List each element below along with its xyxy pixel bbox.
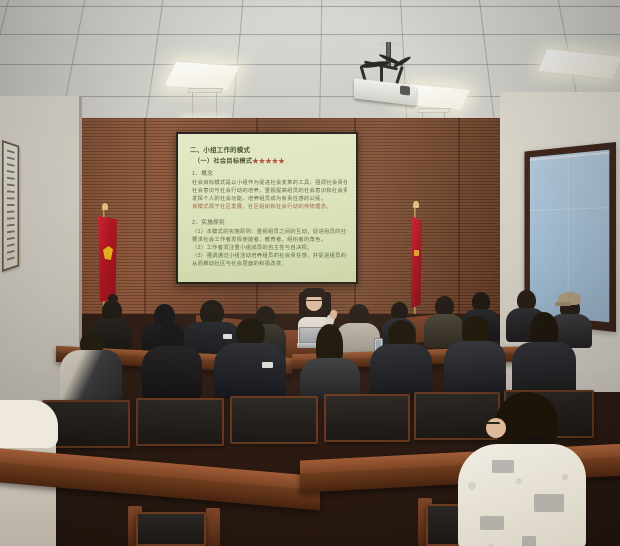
ceiling-light-panel [163, 61, 241, 92]
chair-post [206, 508, 220, 546]
student-hood-dark-mid [140, 324, 202, 394]
student-dark-puffer-mid [370, 320, 432, 394]
seat-back-foreground [136, 512, 206, 546]
sweater [458, 444, 586, 546]
slide-body-line: （1）本模式的实施原则：重视组员之间的互动，促进组员的社会参与能力， [192, 228, 347, 236]
seat-back [136, 398, 224, 446]
hair-bun [108, 294, 118, 303]
presenter-fringe [302, 288, 326, 297]
slide-body-line: 从而推动社区与社会层面的积极改变。 [192, 260, 347, 268]
glasses-icon [484, 422, 500, 426]
slide-star-rating: ★★★★★ [252, 158, 284, 165]
presentation-slide: 二、小组工作的模式 （一）社会目标模式★★★★★ 1．概念 社会目标模式是以小组… [178, 134, 356, 282]
slide-section-1-label: 1．概念 [192, 169, 347, 177]
face-profile [486, 418, 506, 438]
seat-back [230, 396, 318, 444]
student-right-mid [444, 316, 506, 392]
seat-back [324, 394, 410, 442]
student-horse-print-sweater [452, 392, 592, 546]
slide-body-line: 要求社会工作者发挥使能者、教育者、组织者的角色。 [192, 236, 347, 244]
ceiling-projector [348, 42, 426, 108]
student-black-jacket-front [214, 318, 286, 394]
slide-body-line: （3）强调通过小组活动培养组员的社会责任感，并促进组员的社会行动， [192, 252, 347, 260]
slide-body-line: 该模式源于社区发展、社区组织和社会行动的传统理念。 [192, 203, 347, 211]
slide-subheading: （一）社会目标模式★★★★★ [190, 156, 347, 165]
slide-body-line: 社会目标模式是以小组作为促进社会变革的工具，强调社会责任、 [192, 179, 347, 187]
slide-heading: 二、小组工作的模式 [190, 145, 347, 154]
student-cream-puffer [60, 332, 122, 396]
framed-calligraphy-artwork [2, 140, 19, 272]
slide-section-2-label: 2．实施原则 [192, 218, 347, 226]
student-foreground-left [0, 400, 70, 546]
slide-body-line: 社会意识与社会行动的培养，重视提高组员的社会意识和社会责任感， [192, 187, 347, 195]
projection-screen: 二、小组工作的模式 （一）社会目标模式★★★★★ 1．概念 社会目标模式是以小组… [176, 132, 358, 284]
glasses-icon [306, 300, 322, 303]
student-far-right-mid [512, 312, 576, 392]
shoulder [0, 400, 58, 448]
student-long-hair-mid [300, 324, 360, 394]
khaki-cap [558, 292, 581, 305]
slide-body-line: （2）工作者须注重小组成员的自主性与自决权。 [192, 244, 347, 252]
jacket-logo [262, 362, 273, 368]
slide-body-line: 发挥个人的社会功能，培养组员成为有责任感的公民。 [192, 195, 347, 203]
ceiling-light-panel [537, 48, 620, 80]
classroom-photo: 二、小组工作的模式 （一）社会目标模式★★★★★ 1．概念 社会目标模式是以小组… [0, 0, 620, 546]
slide-subheading-text: （一）社会目标模式 [194, 158, 252, 165]
